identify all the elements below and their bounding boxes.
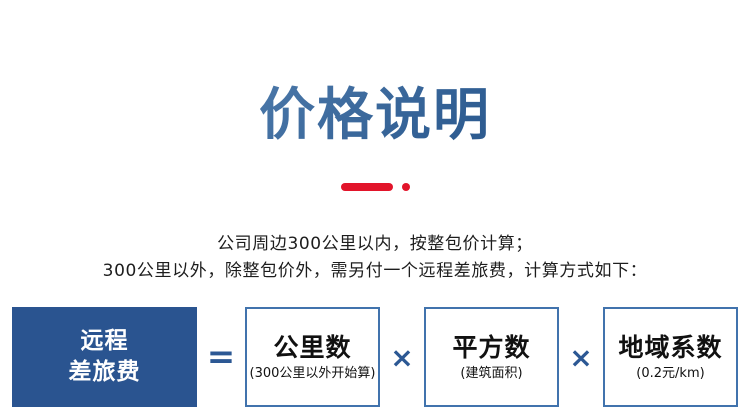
factor-note-distance: (300公里以外开始算)	[250, 365, 376, 382]
title-divider	[0, 183, 750, 191]
factor-note-area: (建筑面积)	[460, 365, 522, 382]
formula-row: 远程 差旅费 = 公里数 (300公里以外开始算) × 平方数 (建筑面积) ×…	[12, 307, 738, 407]
red-bar-icon	[341, 183, 393, 191]
equals-icon: =	[197, 307, 245, 407]
multiply-icon-1: ×	[380, 307, 424, 407]
formula-result-box: 远程 差旅费	[12, 307, 197, 407]
factor-title-area: 平方数	[452, 333, 530, 363]
factor-card-area: 平方数 (建筑面积)	[424, 307, 559, 407]
factor-title-distance: 公里数	[273, 333, 351, 363]
formula-result-line-2: 差旅费	[69, 357, 141, 388]
page-title: 价格说明	[0, 82, 750, 150]
factor-card-distance: 公里数 (300公里以外开始算)	[245, 307, 380, 407]
red-dot-icon	[402, 183, 410, 191]
factor-title-region-coefficient: 地域系数	[618, 333, 722, 363]
multiply-icon-2: ×	[559, 307, 603, 407]
formula-result-line-1: 远程	[81, 326, 129, 357]
description-line-1: 公司周边300公里以内，按整包价计算；	[0, 231, 750, 257]
factor-note-region-coefficient: (0.2元/km)	[636, 365, 704, 382]
factor-card-region-coefficient: 地域系数 (0.2元/km)	[603, 307, 738, 407]
description-line-2: 300公里以外，除整包价外，需另付一个远程差旅费，计算方式如下：	[0, 258, 750, 284]
